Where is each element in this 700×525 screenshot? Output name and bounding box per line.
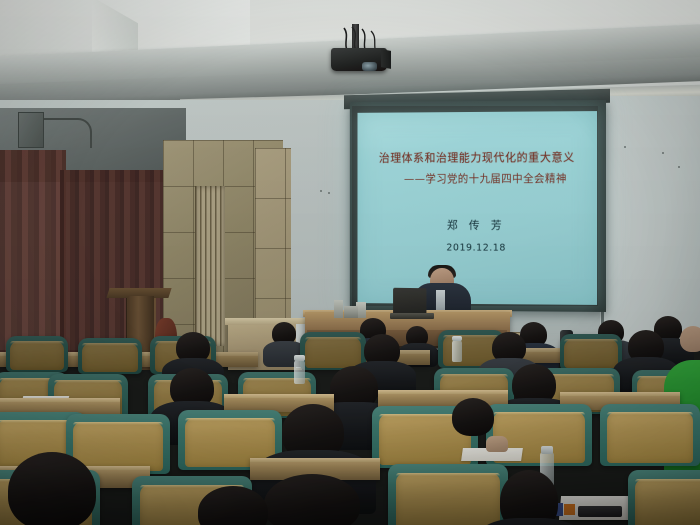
audience-hand — [486, 436, 508, 452]
auditorium-chair[interactable] — [388, 464, 508, 525]
water-bottle[interactable] — [294, 360, 305, 384]
auditorium-chair[interactable] — [78, 338, 142, 374]
wall-speaker-unit — [18, 112, 44, 148]
panel-vertical-slats — [195, 186, 225, 346]
projector-lens-icon — [362, 62, 377, 71]
auditorium-chair[interactable] — [600, 404, 700, 466]
wall-mark — [320, 190, 322, 192]
slide-title: 治理体系和治理能力现代化的重大意义 — [358, 149, 598, 166]
wall-mark — [662, 152, 664, 154]
wall-mark — [328, 192, 330, 194]
acoustic-wall-panel-secondary — [255, 148, 291, 338]
projection-screen-surface: 治理体系和治理能力现代化的重大意义 ——学习党的十九届四中全会精神 郑 传 芳 … — [358, 111, 598, 305]
person-head — [264, 474, 360, 525]
person-head — [8, 452, 96, 525]
person-head — [452, 398, 494, 436]
person-head — [680, 326, 700, 352]
presenter-shirt — [436, 290, 445, 310]
wall-mark — [678, 166, 680, 168]
right-side-wall — [600, 96, 700, 346]
slide-author: 郑 传 芳 — [358, 217, 598, 233]
auditorium-chair[interactable] — [628, 470, 700, 525]
mobile-phone[interactable] — [578, 506, 622, 517]
lecture-hall-photo: 治理体系和治理能力现代化的重大意义 ——学习党的十九届四中全会精神 郑 传 芳 … — [0, 0, 700, 525]
presenter-laptop-screen[interactable] — [393, 288, 426, 316]
projector-side-panel — [381, 49, 391, 69]
projection-screen-frame: 治理体系和治理能力现代化的重大意义 ——学习党的十九届四中全会精神 郑 传 芳 … — [350, 100, 606, 312]
panel-grid-lines — [255, 148, 291, 338]
bottle-cap — [294, 355, 305, 361]
bottle-cap — [541, 446, 553, 454]
desk-microphone-stand — [334, 300, 343, 318]
presenter-laptop-base[interactable] — [390, 313, 434, 319]
wall-conduit-pipe — [44, 118, 92, 148]
wall-mark — [624, 146, 626, 148]
auditorium-chair[interactable] — [560, 334, 622, 370]
projector-body — [331, 48, 387, 71]
person-head — [500, 470, 558, 525]
slide-date: 2019.12.18 — [358, 242, 598, 254]
slide-subtitle: ——学习党的十九届四中全会精神 — [358, 171, 598, 186]
cabinet-top-surface — [225, 318, 305, 325]
water-bottle[interactable] — [452, 340, 462, 362]
auditorium-chair[interactable] — [6, 336, 68, 372]
bottle-cap — [452, 336, 462, 341]
booklet-tab-orange — [564, 504, 575, 515]
desk-paper-stack — [344, 306, 358, 318]
stage-curtain-left — [0, 150, 66, 365]
